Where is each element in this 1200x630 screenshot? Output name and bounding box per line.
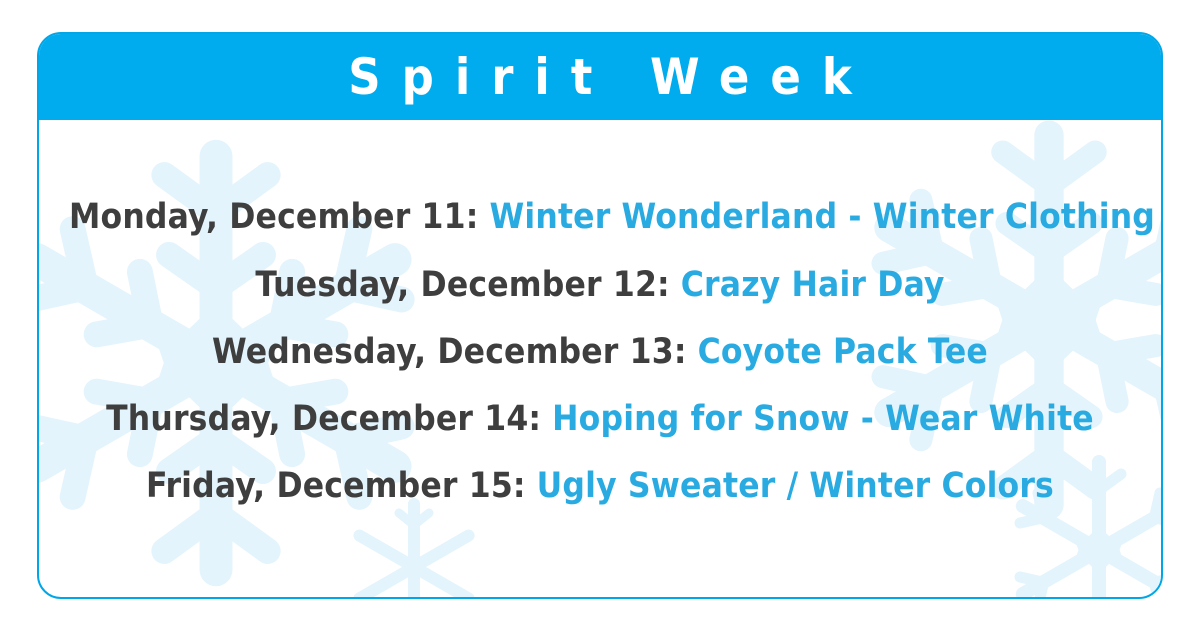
schedule-row-friday: Friday, December 15: Ugly Sweater / Wint… [69, 453, 1131, 520]
page-title: Spirit Week [327, 52, 873, 102]
schedule-row-tuesday: Tuesday, December 12: Crazy Hair Day [69, 252, 1131, 319]
card-header: Spirit Week [39, 34, 1161, 120]
schedule-day-label-wednesday: Wednesday, December 13: [212, 332, 687, 372]
schedule-day-label-monday: Monday, December 11: [69, 197, 479, 237]
spirit-week-schedule-list: Monday, December 11: Winter Wonderland -… [39, 120, 1161, 599]
schedule-theme-label-tuesday: Crazy Hair Day [681, 265, 945, 305]
schedule-theme-label-thursday: Hoping for Snow - Wear White [552, 399, 1094, 439]
schedule-theme-label-monday: Winter Wonderland - Winter Clothing [489, 197, 1155, 237]
schedule-theme-label-wednesday: Coyote Pack Tee [698, 332, 988, 372]
schedule-day-label-tuesday: Tuesday, December 12: [255, 265, 669, 305]
schedule-row-thursday: Thursday, December 14: Hoping for Snow -… [69, 386, 1131, 453]
schedule-row-monday: Monday, December 11: Winter Wonderland -… [69, 184, 1131, 251]
schedule-day-label-thursday: Thursday, December 14: [106, 399, 541, 439]
schedule-theme-label-friday: Ugly Sweater / Winter Colors [537, 466, 1054, 506]
schedule-row-wednesday: Wednesday, December 13: Coyote Pack Tee [69, 319, 1131, 386]
spirit-week-poster: Spirit Week [0, 0, 1200, 630]
schedule-day-label-friday: Friday, December 15: [146, 466, 526, 506]
spirit-week-card: Spirit Week [37, 32, 1163, 599]
